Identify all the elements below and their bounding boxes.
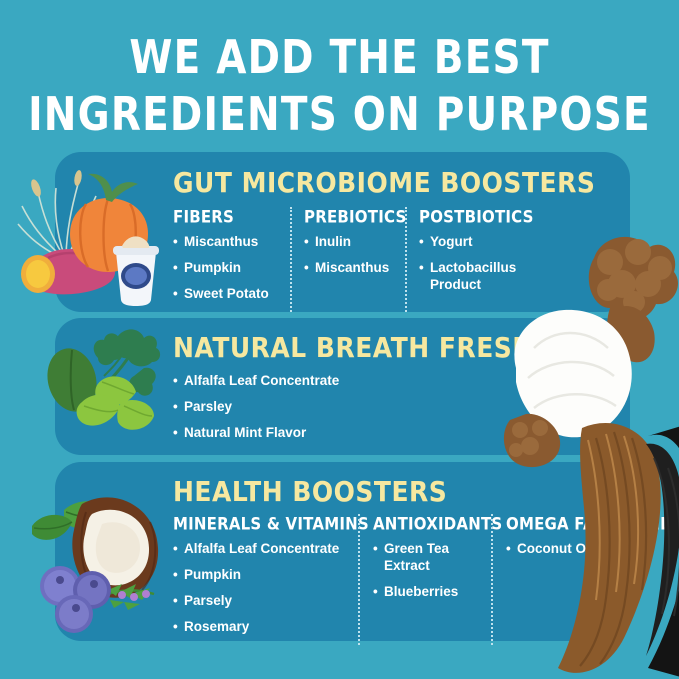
column-heading-antioxidants: ANTIOXIDANTS (373, 514, 485, 534)
section-heading-gut-microbiome-boosters: GUT MICROBIOME BOOSTERS (173, 166, 595, 198)
column-heading-prebiotics: PREBIOTICS (304, 207, 399, 227)
list-fibers: Miscanthus Pumpkin Sweet Potato (173, 234, 280, 303)
column-fibers: FIBERS Miscanthus Pumpkin Sweet Potato (173, 207, 290, 312)
column-prebiotics: PREBIOTICS Inulin Miscanthus (290, 207, 405, 312)
section-card-natural-breath-fresheners: NATURAL BREATH FRESHENERS Alfalfa Leaf C… (55, 318, 630, 455)
section-heading-natural-breath-fresheners: NATURAL BREATH FRESHENERS (173, 331, 629, 363)
list-item: Coconut Oil (506, 541, 656, 558)
list-item: Yogurt (419, 234, 539, 251)
page-title: WE ADD THE BEST INGREDIENTS ON PURPOSE (0, 34, 679, 134)
column-heading-minerals-vitamins: MINERALS & VITAMINS (173, 514, 348, 534)
title-line-2: INGREDIENTS ON PURPOSE (0, 91, 679, 142)
section-card-gut-microbiome-boosters: GUT MICROBIOME BOOSTERS FIBERS Miscanthu… (55, 152, 630, 312)
column-antioxidants: ANTIOXIDANTS Green Tea Extract Blueberri… (358, 514, 491, 645)
title-line-1: WE ADD THE BEST (0, 34, 679, 85)
list-item: Alfalfa Leaf Concentrate (173, 373, 473, 390)
section-card-health-boosters: HEALTH BOOSTERS MINERALS & VITAMINS Alfa… (55, 462, 630, 641)
list-item: Natural Mint Flavor (173, 425, 473, 442)
list-item: Alfalfa Leaf Concentrate (173, 541, 348, 558)
list-item: Pumpkin (173, 567, 348, 584)
section-heading-health-boosters: HEALTH BOOSTERS (173, 475, 447, 507)
list-item: Parsely (173, 593, 348, 610)
column-heading-postbiotics: POSTBIOTICS (419, 207, 539, 227)
list-minerals-vitamins: Alfalfa Leaf Concentrate Pumpkin Parsely… (173, 541, 348, 636)
list-item: Miscanthus (173, 234, 280, 251)
infographic-root: WE ADD THE BEST INGREDIENTS ON PURPOSE G… (0, 0, 679, 679)
list-item: Sweet Potato (173, 286, 280, 303)
list-item: Miscanthus (304, 260, 399, 277)
list-item: Inulin (304, 234, 399, 251)
list-omega-fatty-acids: Coconut Oil (506, 541, 656, 558)
column-postbiotics: POSTBIOTICS Yogurt Lactobacillus Product (405, 207, 539, 312)
list-postbiotics: Yogurt Lactobacillus Product (419, 234, 539, 294)
list-item: Parsley (173, 399, 473, 416)
list-natural-breath-fresheners: Alfalfa Leaf Concentrate Parsley Natural… (173, 373, 473, 451)
list-item: Green Tea Extract (373, 541, 454, 575)
list-item: Lactobacillus Product (419, 260, 539, 294)
list-antioxidants: Green Tea Extract Blueberries (373, 541, 485, 601)
column-heading-fibers: FIBERS (173, 207, 280, 227)
list-prebiotics: Inulin Miscanthus (304, 234, 399, 277)
column-heading-omega-fatty-acids: OMEGA FATTY ACIDS (506, 514, 656, 534)
column-omega-fatty-acids: OMEGA FATTY ACIDS Coconut Oil (491, 514, 656, 645)
list-item: Blueberries (373, 584, 485, 601)
list-item: Pumpkin (173, 260, 280, 277)
list-item: Rosemary (173, 619, 348, 636)
column-minerals-vitamins: MINERALS & VITAMINS Alfalfa Leaf Concent… (173, 514, 358, 645)
